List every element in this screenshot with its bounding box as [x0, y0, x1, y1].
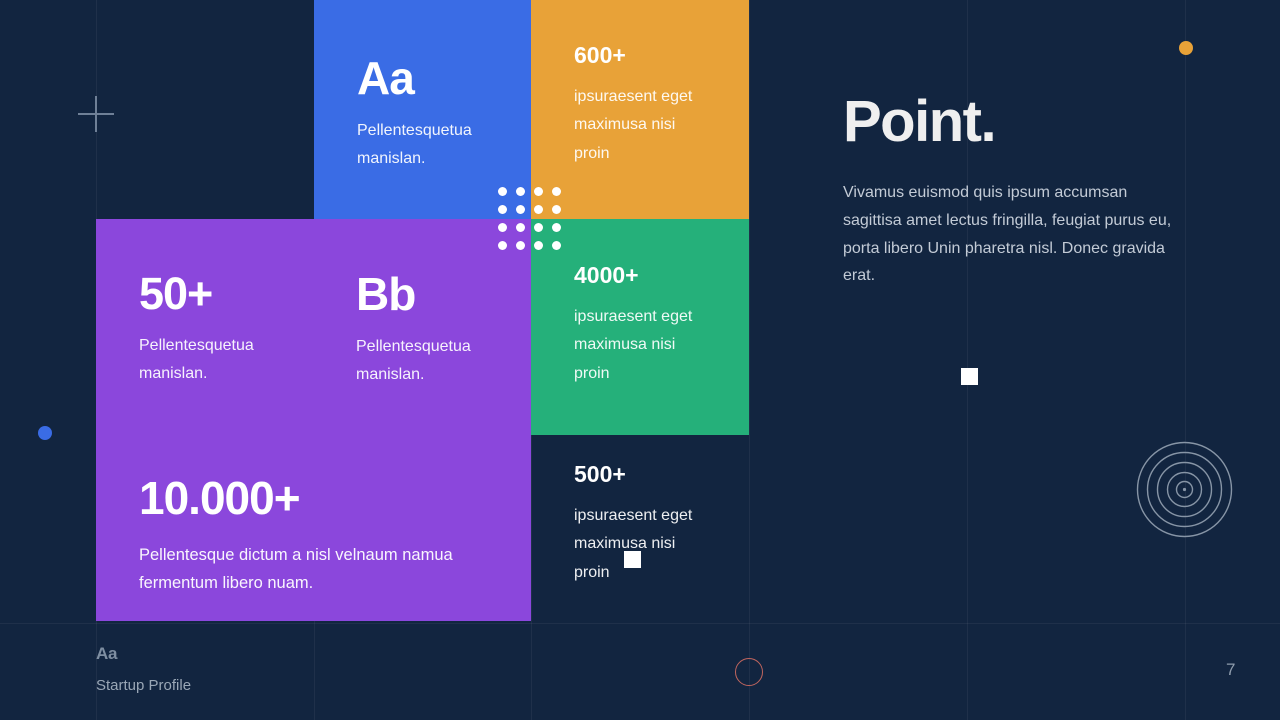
square-marker-icon — [961, 368, 978, 385]
card-stat-50[interactable]: 50+ Pellentesquetua manislan. — [96, 219, 313, 390]
card-aa-description: Pellentesquetua manislan. — [357, 117, 517, 174]
footer-logo: Aa — [96, 644, 117, 664]
card-stat-500[interactable]: 500+ ipsuraesent eget maximusa nisi proi… — [531, 435, 749, 621]
card-4000-number: 4000+ — [574, 264, 749, 287]
card-600-description: ipsuraesent eget maximusa nisi proin — [574, 83, 714, 168]
card-50-number: 50+ — [139, 271, 313, 316]
slide-canvas: Aa Pellentesquetua manislan. 600+ ipsura… — [0, 0, 1280, 720]
grid-line-horizontal — [0, 623, 1280, 624]
card-10000-number: 10.000+ — [139, 475, 531, 521]
dot-orange-icon — [1179, 41, 1193, 55]
card-4000-description: ipsuraesent eget maximusa nisi proin — [574, 303, 714, 388]
card-600-number: 600+ — [574, 44, 749, 67]
plus-icon — [78, 96, 114, 132]
grid-line-vertical — [1185, 0, 1186, 720]
page-title: Point. — [843, 92, 1183, 153]
card-aa-glyph: Aa — [357, 55, 531, 101]
dot-blue-icon — [38, 426, 52, 440]
card-50-description: Pellentesquetua manislan. — [139, 332, 299, 389]
radar-target-icon — [1136, 441, 1233, 538]
card-bb-description: Pellentesquetua manislan. — [356, 333, 516, 390]
card-500-number: 500+ — [574, 463, 749, 486]
card-500-description: ipsuraesent eget maximusa nisi proin — [574, 502, 714, 587]
circle-outline-icon — [735, 658, 763, 686]
card-purple-group[interactable]: 50+ Pellentesquetua manislan. Bb Pellent… — [96, 219, 531, 435]
page-body-text: Vivamus euismod quis ipsum accumsan sagi… — [843, 179, 1173, 290]
footer-subtitle: Startup Profile — [96, 677, 191, 694]
dot-matrix-decoration — [498, 187, 566, 255]
card-10000-description: Pellentesque dictum a nisl velnaum namua… — [139, 541, 499, 598]
right-content-column: Point. Vivamus euismod quis ipsum accums… — [843, 92, 1183, 290]
grid-line-vertical — [749, 0, 750, 720]
card-stat-10000[interactable]: 10.000+ Pellentesque dictum a nisl velna… — [96, 435, 531, 621]
card-bb-glyph: Bb — [356, 271, 530, 317]
page-number: 7 — [1226, 660, 1235, 680]
